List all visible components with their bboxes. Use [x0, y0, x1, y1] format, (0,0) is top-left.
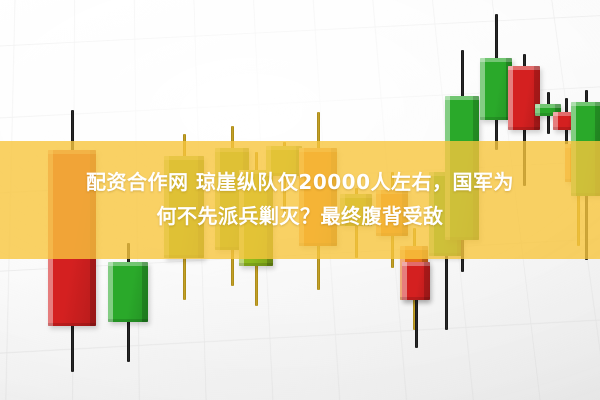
caption-line-2: 何不先派兵剿灭？最终腹背受敌 — [0, 200, 600, 232]
candlestick-chart-image: 配资合作网 琼崖纵队仅20000人左右，国军为 何不先派兵剿灭？最终腹背受敌 — [0, 0, 600, 400]
caption-line-1: 配资合作网 琼崖纵队仅20000人左右，国军为 — [0, 166, 600, 198]
